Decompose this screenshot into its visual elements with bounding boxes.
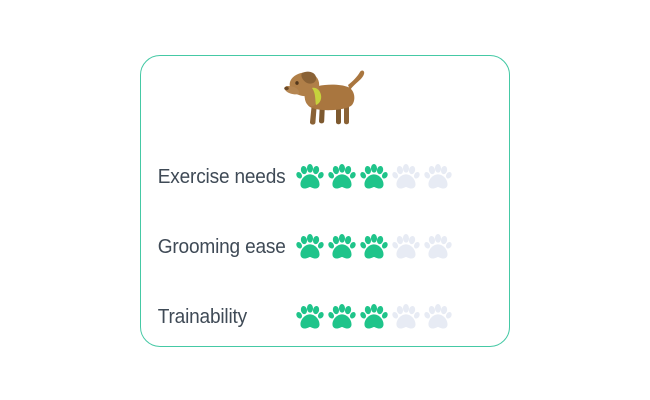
rating-row-grooming-ease: Grooming ease bbox=[141, 212, 509, 282]
paw-icon[interactable] bbox=[328, 304, 356, 330]
dog-icon bbox=[282, 68, 368, 130]
paw-icon[interactable] bbox=[424, 164, 452, 190]
rating-row-trainability: Trainability bbox=[141, 282, 509, 352]
rating-label-grooming-ease: Grooming ease bbox=[141, 235, 285, 259]
rating-paws-exercise-needs bbox=[296, 164, 452, 190]
paw-icon[interactable] bbox=[296, 304, 324, 330]
paw-icon[interactable] bbox=[424, 304, 452, 330]
paw-icon[interactable] bbox=[424, 234, 452, 260]
paw-icon[interactable] bbox=[392, 164, 420, 190]
rating-row-exercise-needs: Exercise needs bbox=[141, 142, 509, 212]
paw-icon[interactable] bbox=[360, 234, 388, 260]
paw-icon[interactable] bbox=[360, 164, 388, 190]
paw-icon[interactable] bbox=[360, 304, 388, 330]
dog-illustration bbox=[141, 64, 509, 134]
paw-icon[interactable] bbox=[296, 164, 324, 190]
paw-icon[interactable] bbox=[328, 164, 356, 190]
rating-rows: Exercise needs Grooming ease bbox=[141, 142, 509, 352]
screenshot-canvas: Exercise needs Grooming ease bbox=[0, 0, 650, 400]
rating-label-exercise-needs: Exercise needs bbox=[141, 165, 285, 189]
rating-label-trainability: Trainability bbox=[141, 305, 285, 329]
paw-icon[interactable] bbox=[392, 234, 420, 260]
paw-icon[interactable] bbox=[392, 304, 420, 330]
breed-rating-card: Exercise needs Grooming ease bbox=[140, 55, 510, 347]
rating-paws-trainability bbox=[296, 304, 452, 330]
rating-paws-grooming-ease bbox=[296, 234, 452, 260]
paw-icon[interactable] bbox=[328, 234, 356, 260]
paw-icon[interactable] bbox=[296, 234, 324, 260]
